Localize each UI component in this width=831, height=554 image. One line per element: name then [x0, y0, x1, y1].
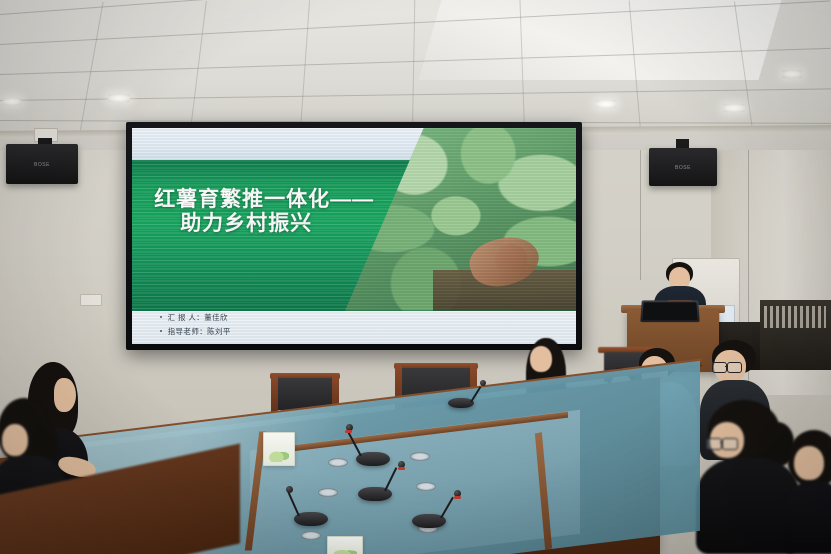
- speaker-brand-label: BOSE: [34, 162, 50, 168]
- table-cable-grommet: [416, 482, 436, 491]
- mic-indicator-ring: [345, 430, 352, 433]
- table-cable-grommet: [328, 458, 348, 467]
- ceiling-tile-line-v: [80, 2, 104, 130]
- tissue-box-center: [327, 536, 363, 554]
- speaker-brand-label-right: BOSE: [675, 165, 691, 171]
- wall-speaker-right: BOSE: [649, 148, 717, 186]
- eyeglasses-bridge: [720, 442, 723, 443]
- led-display: 红薯育繁推一体化—— 助力乡村振兴 汇 报 人：董佳欣 指导老师：陈刘平: [126, 122, 582, 350]
- mic-indicator-ring: [398, 467, 405, 470]
- attendee-head: [530, 346, 552, 372]
- attendee-torso: [784, 482, 831, 554]
- podium-laptop: [640, 300, 700, 322]
- table-cable-grommet: [410, 452, 430, 461]
- title-slide: 红薯育繁推一体化—— 助力乡村振兴 汇 报 人：董佳欣 指导老师：陈刘平: [132, 128, 576, 344]
- slide-title-line-1: 红薯育繁推一体化——: [154, 188, 447, 212]
- presentation-screen: 红薯育繁推一体化—— 助力乡村振兴 汇 报 人：董佳欣 指导老师：陈刘平: [132, 128, 576, 344]
- chair-arm-left: [271, 375, 278, 413]
- ceiling-tile-line-v: [190, 1, 207, 130]
- eyeglasses-icon-2: [722, 438, 738, 450]
- wall-speaker-left: BOSE: [6, 144, 78, 184]
- conference-room-photo: BOSE BOSE 红薯育繁推一体化—— 助力乡村振兴: [0, 0, 831, 554]
- table-cable-grommet: [318, 488, 338, 497]
- eyeglasses-bridge: [725, 366, 728, 367]
- ceiling-downlight: [782, 70, 802, 78]
- attendee-ponytail: [32, 424, 58, 460]
- slide-bullet-list: 汇 报 人：董佳欣 指导老师：陈刘平: [159, 311, 231, 339]
- mic-capsule: [286, 486, 293, 493]
- wall-outlet-plate: [80, 294, 102, 306]
- wall-seam-2: [640, 140, 641, 280]
- attendee-far-right: [788, 430, 831, 554]
- bullet-presenter: 汇 报 人：董佳欣: [159, 311, 231, 325]
- bullet-advisor: 指导老师：陈刘平: [159, 325, 231, 339]
- slide-title-line-2: 助力乡村振兴: [180, 212, 447, 236]
- laptop-screen: [642, 302, 697, 320]
- tissue-box-left: [263, 432, 295, 466]
- rack-vent-slats: [764, 306, 826, 328]
- ceiling-tile-line-v: [412, 0, 415, 130]
- slide-title: 红薯育繁推一体化—— 助力乡村振兴: [154, 188, 447, 235]
- eyeglasses-icon: [712, 362, 727, 373]
- table-cable-grommet: [301, 531, 321, 540]
- ceiling-downlight: [108, 94, 130, 102]
- mic-indicator-ring: [454, 496, 461, 499]
- ceiling-downlight: [723, 104, 745, 112]
- attendee-head: [794, 446, 824, 480]
- eyeglasses-icon: [706, 438, 722, 450]
- mic-capsule: [480, 380, 486, 386]
- ceiling-downlight: [3, 98, 21, 105]
- eyeglasses-icon-2: [727, 362, 742, 373]
- ceiling-downlight: [596, 100, 616, 108]
- attendee-head: [2, 424, 28, 456]
